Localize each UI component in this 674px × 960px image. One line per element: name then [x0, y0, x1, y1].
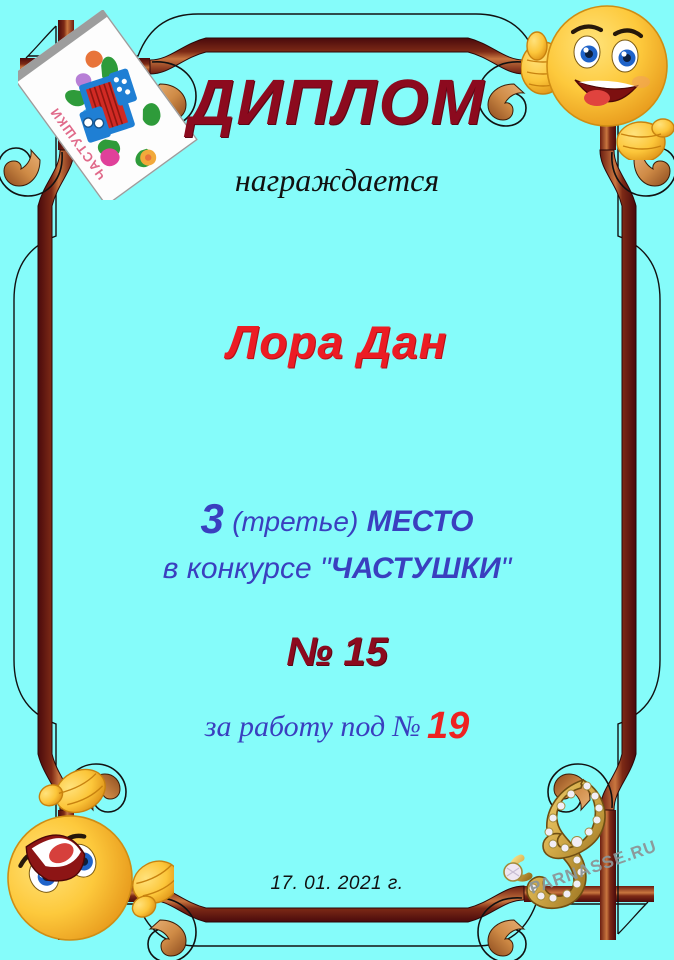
work-number: 19: [427, 705, 469, 747]
page-title: ДИПЛОМ: [0, 70, 674, 134]
contest-prefix: в конкурсе ": [163, 552, 331, 585]
awarded-to-label: награждается: [0, 162, 674, 199]
diploma-certificate: ЧАСТУШКИ: [0, 0, 674, 960]
contest-line: в конкурсе "ЧАСТУШКИ": [0, 552, 674, 586]
rank-word: МЕСТО: [367, 505, 474, 538]
rank-digit: 3: [201, 495, 224, 542]
rank-parenthetical: (третье): [232, 506, 358, 537]
place-line: 3 (третье) МЕСТО: [0, 498, 674, 540]
certificate-content: ДИПЛОМ награждается Лора Дан 3 (третье) …: [0, 0, 674, 960]
contest-suffix: ": [501, 552, 512, 585]
work-prefix: за работу под №: [205, 710, 421, 743]
work-line: за работу под №19: [0, 705, 674, 748]
awardee-name: Лора Дан: [0, 315, 674, 369]
contest-number: № 15: [0, 630, 674, 675]
contest-name: ЧАСТУШКИ: [331, 552, 501, 585]
